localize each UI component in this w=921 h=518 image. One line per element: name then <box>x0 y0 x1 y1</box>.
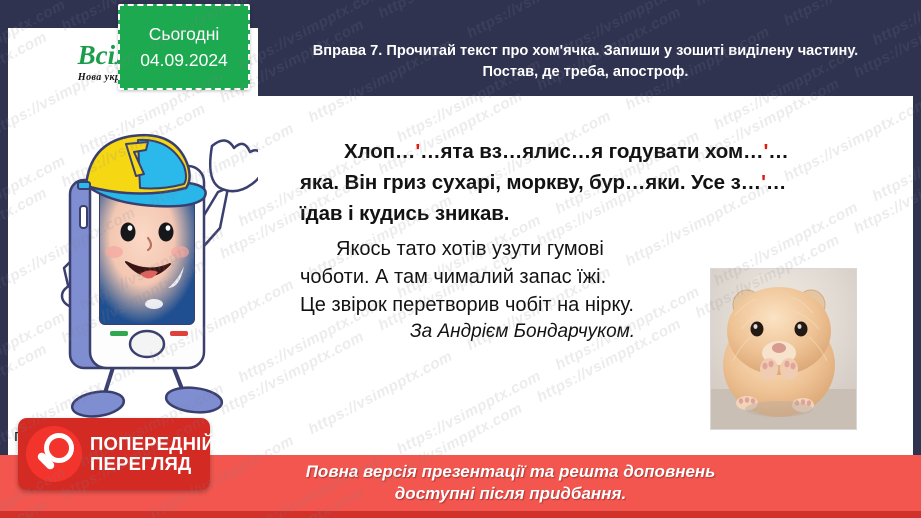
preview-line-1: ПОПЕРЕДНІЙ <box>90 434 215 454</box>
preview-line-2: ПЕРЕГЛЯД <box>90 454 215 474</box>
exercise-header-text: Вправа 7. Прочитай текст про хом'ячка. З… <box>303 41 868 83</box>
bold-seg-0: Хлоп… <box>344 140 415 163</box>
smartphone-mascot <box>42 128 258 424</box>
purchase-banner-text: Повна версія презентації та решта доповн… <box>161 461 861 505</box>
preview-badge-label: ПОПЕРЕДНІЙ ПЕРЕГЛЯД <box>90 434 215 473</box>
preview-badge[interactable]: ПОПЕРЕДНІЙ ПЕРЕГЛЯД <box>18 418 210 490</box>
exercise-regular-paragraph: Якось тато хотів узути гумові чоботи. А … <box>300 235 635 319</box>
header-line-1: Вправа 7. Прочитай текст про хом'ячка. З… <box>313 43 858 59</box>
date-badge-label: Сьогодні <box>149 21 220 47</box>
date-badge: Сьогодні 04.09.2024 <box>118 4 250 90</box>
text-attribution: За Андрієм Бондарчуком. <box>300 321 635 343</box>
bold-seg-2: …ята вз…ялис…я годувати хом… <box>420 140 763 163</box>
regular-paragraph-text: Якось тато хотів узути гумові чоботи. А … <box>300 238 634 316</box>
slide-root: Всім.pptx Нова українська школа Сьогодні… <box>0 0 921 518</box>
exercise-bold-paragraph: Хлоп…'…ята вз…ялис…я годувати хом…'…яка.… <box>300 136 820 229</box>
magnifier-icon <box>26 426 82 482</box>
header-line-2: Постав, де треба, апостроф. <box>483 64 689 80</box>
banner-line-2: доступні після придбання. <box>395 484 626 503</box>
date-badge-value: 04.09.2024 <box>140 47 228 73</box>
banner-line-1: Повна версія презентації та решта доповн… <box>306 462 716 481</box>
banner-bottom-strip <box>0 511 921 518</box>
exercise-header: Вправа 7. Прочитай текст про хом'ячка. З… <box>258 28 913 96</box>
hamster-photo <box>710 268 857 430</box>
